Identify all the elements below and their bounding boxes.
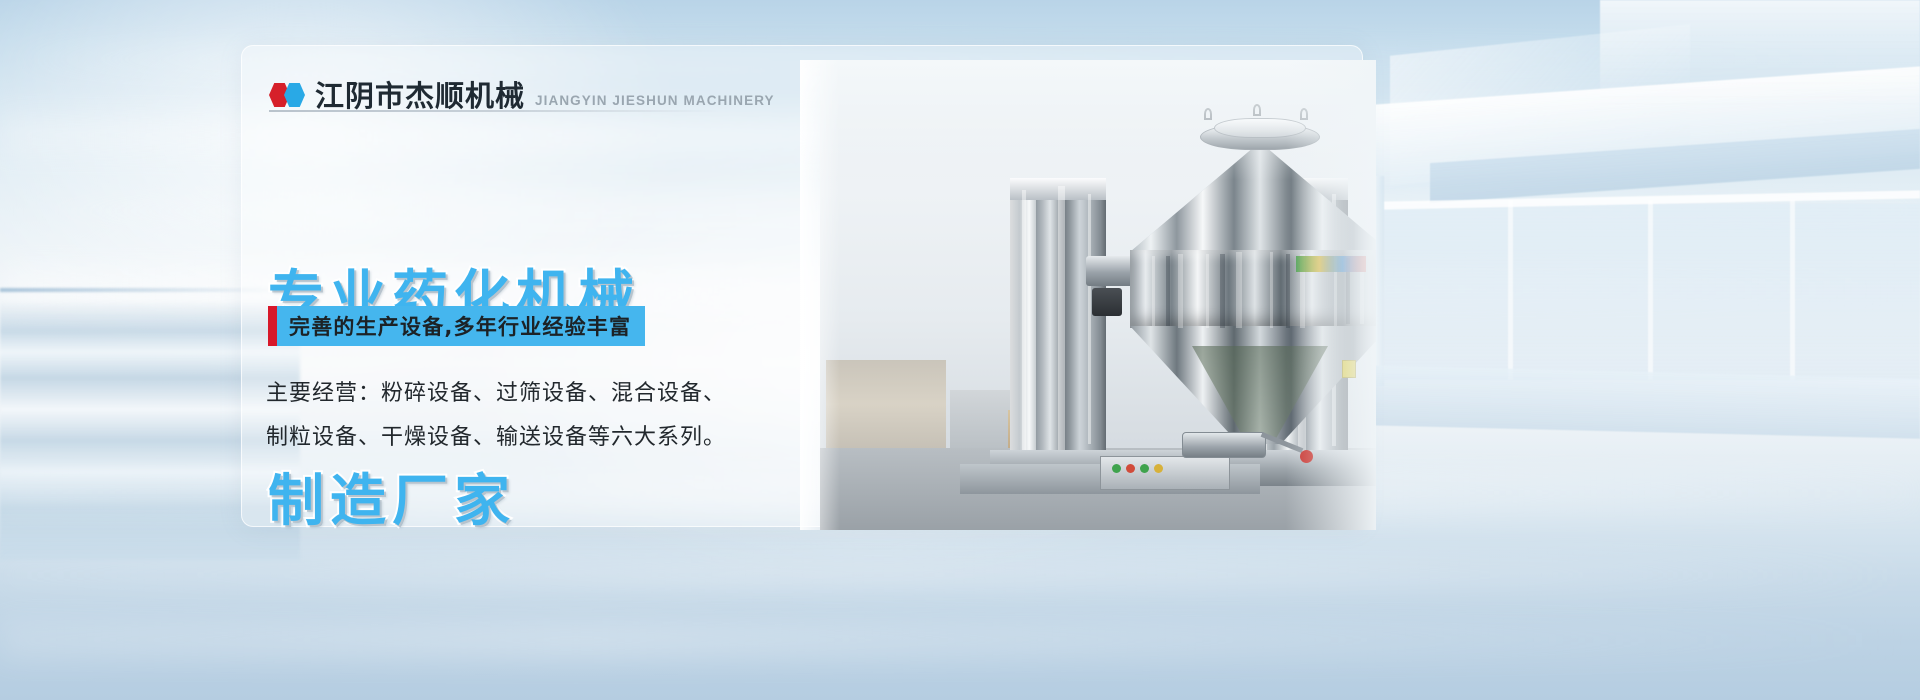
hero-banner: 江阴市杰顺机械 JIANGYIN JIESHUN MACHINERY 专业药化机… (0, 0, 1920, 700)
tagline-bar: 完善的生产设备,多年行业经验丰富 (268, 306, 645, 346)
mirror-facet (1152, 256, 1155, 326)
headline-line-2: 制造厂家 (268, 468, 640, 536)
brand-name-cn: 江阴市杰顺机械 (315, 80, 525, 112)
steel-reflection-streak (1022, 190, 1026, 450)
description-line-2: 制粒设备、干燥设备、输送设备等六大系列。 (266, 416, 786, 460)
product-photo-inner (800, 60, 1376, 530)
mirror-facet (1206, 254, 1209, 328)
mirror-facet (1178, 254, 1183, 328)
mirror-facet-dark (1220, 254, 1225, 328)
brand-logo[interactable]: 江阴市杰顺机械 JIANGYIN JIESHUN MACHINERY (269, 72, 775, 112)
description: 主要经营：粉碎设备、过筛设备、混合设备、 制粒设备、干燥设备、输送设备等六大系列… (266, 372, 786, 460)
brand-name-en: JIANGYIN JIESHUN MACHINERY (535, 93, 775, 108)
tagline-body: 完善的生产设备,多年行业经验丰富 (277, 306, 645, 346)
indicator-lamp (1126, 464, 1135, 473)
building-mullion (1648, 200, 1653, 380)
machine-drive-motor (1092, 288, 1122, 316)
building-mullion (1508, 200, 1513, 380)
building-mullion (1790, 200, 1795, 380)
product-photo (800, 60, 1376, 530)
brand-divider (269, 110, 719, 112)
indicator-lamp (1112, 464, 1121, 473)
steel-reflection-streak (1058, 186, 1065, 456)
control-panel (1100, 456, 1230, 490)
description-line-1: 主要经营：粉碎设备、过筛设备、混合设备、 (266, 372, 786, 416)
hexagon-blue-icon (284, 83, 305, 107)
logo-mark (269, 83, 305, 107)
photo-fade-right (1286, 60, 1376, 530)
mirror-facet (1236, 252, 1242, 328)
indicator-lamp (1154, 464, 1163, 473)
mirror-facet-dark (1166, 256, 1170, 326)
steel-reflection-streak (1088, 194, 1091, 444)
tagline-accent (268, 306, 277, 346)
mirror-facet (1270, 252, 1273, 328)
building-highlight (1600, 0, 1920, 110)
indicator-lamp (1140, 464, 1149, 473)
discharge-valve (1182, 432, 1266, 458)
photo-fade-left (800, 60, 840, 530)
tagline-text: 完善的生产设备,多年行业经验丰富 (289, 311, 631, 341)
